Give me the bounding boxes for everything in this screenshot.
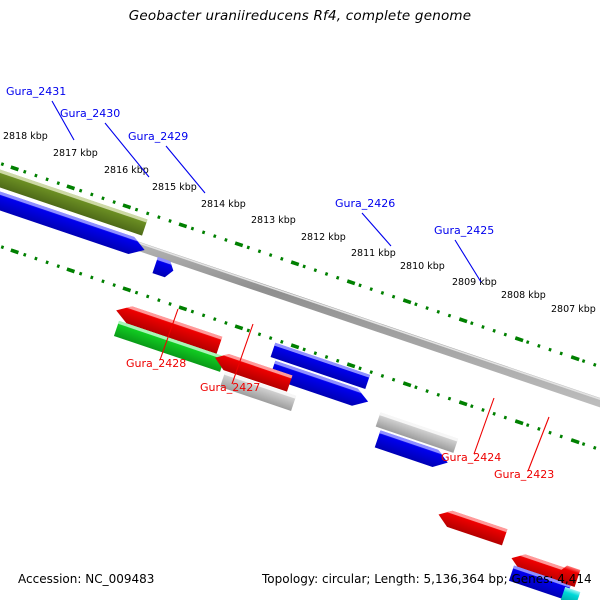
gene-label-gura-2423[interactable]: Gura_2423	[494, 468, 554, 481]
tick-label: 2809 kbp	[452, 277, 497, 288]
ruler-lower	[0, 243, 600, 453]
tick-label: 2814 kbp	[201, 199, 246, 210]
tick-label: 2817 kbp	[53, 148, 98, 159]
gene-label-gura-2428[interactable]: Gura_2428	[126, 357, 186, 370]
tick-label: 2807 kbp	[551, 304, 596, 315]
accession-text: Accession: NC_009483	[18, 572, 154, 586]
gene-label-gura-2431[interactable]: Gura_2431	[6, 85, 66, 98]
tick-label: 2808 kbp	[501, 290, 546, 301]
gene-label-gura-2426[interactable]: Gura_2426	[335, 197, 395, 210]
tick-label: 2810 kbp	[400, 261, 445, 272]
ruler-upper	[0, 160, 600, 370]
gene-label-gura-2427[interactable]: Gura_2427	[200, 381, 260, 394]
gene-track-reverse[interactable]	[113, 302, 580, 600]
genome-map-viewer: Geobacter uraniireducens Rf4, complete g…	[0, 0, 600, 600]
gene-label-gura-2425[interactable]: Gura_2425	[434, 224, 494, 237]
tick-label: 2812 kbp	[301, 232, 346, 243]
gene-label-gura-2424[interactable]: Gura_2424	[441, 451, 501, 464]
tick-label: 2811 kbp	[351, 248, 396, 259]
gene-label-gura-2430[interactable]: Gura_2430	[60, 107, 120, 120]
genome-map-canvas[interactable]: 2818 kbp 2817 kbp 2816 kbp 2815 kbp 2814…	[0, 0, 600, 600]
tick-label: 2815 kbp	[152, 182, 197, 193]
tick-label: 2813 kbp	[251, 215, 296, 226]
tick-label: 2818 kbp	[3, 131, 48, 142]
tick-label: 2816 kbp	[104, 165, 149, 176]
gene-track-forward[interactable]	[0, 166, 458, 471]
gene-label-gura-2429[interactable]: Gura_2429	[128, 130, 188, 143]
gene-gura-2424[interactable]	[436, 507, 508, 546]
genome-stats-text: Topology: circular; Length: 5,136,364 bp…	[262, 572, 592, 586]
